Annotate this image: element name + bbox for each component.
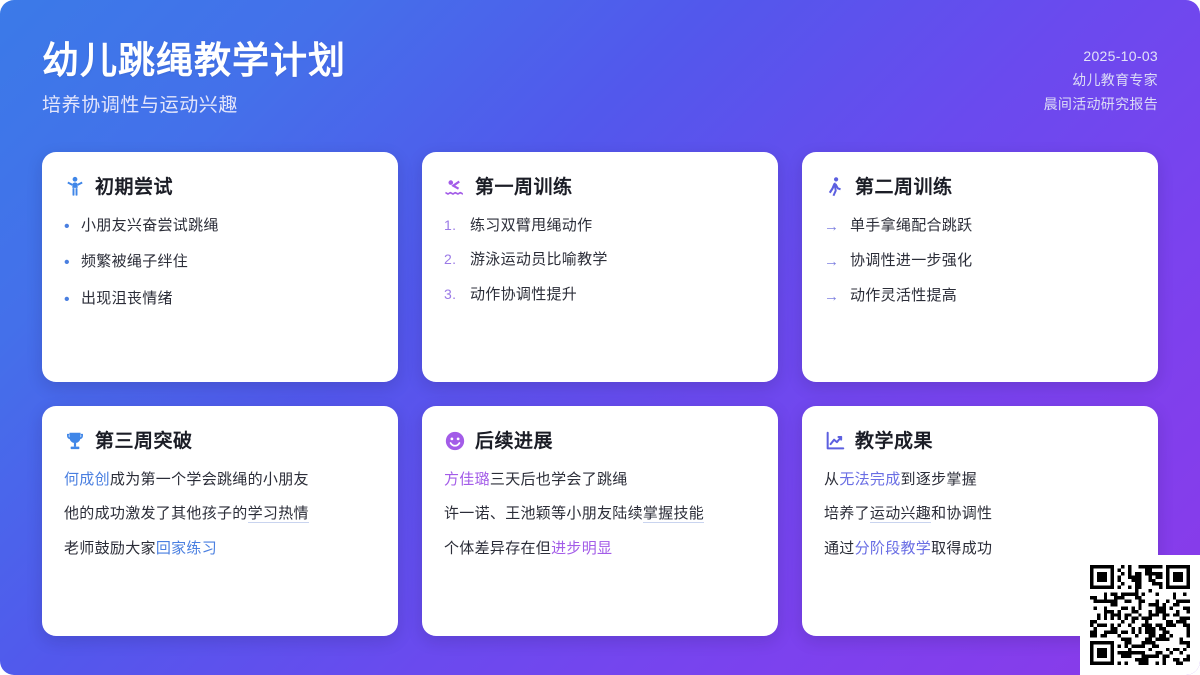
trophy-icon bbox=[64, 430, 86, 452]
card-header: 后续进展 bbox=[444, 430, 756, 452]
slide-root: 幼儿跳绳教学计划 培养协调性与运动兴趣 2025-10-03 幼儿教育专家 晨间… bbox=[0, 0, 1200, 675]
card-2: 第一周训练1.练习双臂甩绳动作2.游泳运动员比喻教学3.动作协调性提升 bbox=[422, 152, 778, 382]
card-3: 第二周训练→单手拿绳配合跳跃→协调性进一步强化→动作灵活性提高 bbox=[802, 152, 1158, 382]
highlight-segment: 学习热情 bbox=[248, 505, 309, 523]
list-marker: → bbox=[824, 251, 840, 272]
list-item: •频繁被绳子绊住 bbox=[64, 252, 376, 274]
text-segment: 成为第一个学会跳绳的小朋友 bbox=[110, 471, 309, 488]
text-segment: 和协调性 bbox=[931, 505, 992, 522]
list-marker: → bbox=[824, 286, 840, 307]
card-list: •小朋友兴奋尝试跳绳•频繁被绳子绊住•出现沮丧情绪 bbox=[64, 216, 376, 311]
line-chart-icon bbox=[824, 430, 846, 452]
text-segment: 他的成功激发了其他孩子的 bbox=[64, 505, 248, 522]
list-item-label: 游泳运动员比喻教学 bbox=[470, 250, 608, 270]
text-segment: 到逐步掌握 bbox=[901, 471, 978, 488]
list-item-label: 动作灵活性提高 bbox=[850, 286, 957, 306]
highlight-segment: 进步明显 bbox=[551, 540, 612, 557]
text-segment: 老师鼓励大家 bbox=[64, 540, 156, 557]
list-item: 1.练习双臂甩绳动作 bbox=[444, 216, 756, 236]
walking-person-icon bbox=[824, 176, 846, 198]
smiley-face-icon bbox=[444, 430, 466, 452]
card-title: 后续进展 bbox=[475, 432, 553, 451]
paragraph-line: 方佳璐三天后也学会了跳绳 bbox=[444, 470, 756, 490]
list-marker: • bbox=[64, 289, 71, 311]
list-item-label: 练习双臂甩绳动作 bbox=[470, 216, 592, 236]
card-1: 初期尝试•小朋友兴奋尝试跳绳•频繁被绳子绊住•出现沮丧情绪 bbox=[42, 152, 398, 382]
card-header: 教学成果 bbox=[824, 430, 1136, 452]
list-marker: 3. bbox=[444, 285, 460, 305]
card-header: 初期尝试 bbox=[64, 176, 376, 198]
meta-author: 幼儿教育专家 bbox=[1044, 68, 1158, 92]
card-title: 第三周突破 bbox=[95, 432, 193, 451]
text-segment: 三天后也学会了跳绳 bbox=[490, 471, 628, 488]
header-meta: 2025-10-03 幼儿教育专家 晨间活动研究报告 bbox=[1044, 30, 1158, 116]
list-marker: 2. bbox=[444, 250, 460, 270]
qr-code-icon bbox=[1090, 565, 1190, 665]
list-marker: • bbox=[64, 216, 71, 238]
list-item-label: 出现沮丧情绪 bbox=[81, 289, 173, 309]
list-item: •出现沮丧情绪 bbox=[64, 289, 376, 311]
swimmer-icon bbox=[444, 176, 466, 198]
paragraph-line: 个体差异存在但进步明显 bbox=[444, 539, 756, 559]
highlight-segment: 回家练习 bbox=[156, 540, 217, 557]
card-title: 初期尝试 bbox=[95, 178, 173, 197]
title-block: 幼儿跳绳教学计划 培养协调性与运动兴趣 bbox=[42, 30, 346, 117]
card-title: 第二周训练 bbox=[855, 178, 953, 197]
card-header: 第一周训练 bbox=[444, 176, 756, 198]
paragraph-line: 老师鼓励大家回家练习 bbox=[64, 539, 376, 559]
page-subtitle: 培养协调性与运动兴趣 bbox=[42, 90, 346, 117]
highlight-segment: 无法完成 bbox=[839, 471, 900, 488]
list-item-label: 小朋友兴奋尝试跳绳 bbox=[81, 216, 219, 236]
meta-report: 晨间活动研究报告 bbox=[1044, 92, 1158, 116]
paragraph-line: 何成创成为第一个学会跳绳的小朋友 bbox=[64, 470, 376, 490]
card-paragraphs: 方佳璐三天后也学会了跳绳许一诺、王池颖等小朋友陆续掌握技能个体差异存在但进步明显 bbox=[444, 470, 756, 559]
highlight-segment: 何成创 bbox=[64, 471, 110, 488]
page-title: 幼儿跳绳教学计划 bbox=[42, 38, 346, 83]
text-segment: 许一诺、王池颖等小朋友陆续 bbox=[444, 505, 643, 522]
list-marker: → bbox=[824, 216, 840, 237]
card-list: →单手拿绳配合跳跃→协调性进一步强化→动作灵活性提高 bbox=[824, 216, 1136, 307]
list-marker: 1. bbox=[444, 216, 460, 236]
highlight-segment: 运动兴趣 bbox=[870, 505, 931, 523]
text-segment: 从 bbox=[824, 471, 839, 488]
list-item: •小朋友兴奋尝试跳绳 bbox=[64, 216, 376, 238]
child-raising-arms-icon bbox=[64, 176, 86, 198]
list-item: 2.游泳运动员比喻教学 bbox=[444, 250, 756, 270]
list-marker: • bbox=[64, 252, 71, 274]
highlight-segment: 分阶段教学 bbox=[855, 540, 932, 557]
card-header: 第三周突破 bbox=[64, 430, 376, 452]
card-5: 后续进展方佳璐三天后也学会了跳绳许一诺、王池颖等小朋友陆续掌握技能个体差异存在但… bbox=[422, 406, 778, 636]
list-item-label: 动作协调性提升 bbox=[470, 285, 577, 305]
meta-date: 2025-10-03 bbox=[1044, 44, 1158, 68]
card-paragraphs: 从无法完成到逐步掌握培养了运动兴趣和协调性通过分阶段教学取得成功 bbox=[824, 470, 1136, 559]
list-item: →协调性进一步强化 bbox=[824, 251, 1136, 272]
paragraph-line: 培养了运动兴趣和协调性 bbox=[824, 504, 1136, 524]
card-title: 教学成果 bbox=[855, 432, 933, 451]
text-segment: 个体差异存在但 bbox=[444, 540, 551, 557]
list-item-label: 协调性进一步强化 bbox=[850, 251, 972, 271]
list-item: →单手拿绳配合跳跃 bbox=[824, 216, 1136, 237]
paragraph-line: 从无法完成到逐步掌握 bbox=[824, 470, 1136, 490]
list-item-label: 频繁被绳子绊住 bbox=[81, 252, 188, 272]
highlight-segment: 方佳璐 bbox=[444, 471, 490, 488]
card-header: 第二周训练 bbox=[824, 176, 1136, 198]
card-grid: 初期尝试•小朋友兴奋尝试跳绳•频繁被绳子绊住•出现沮丧情绪第一周训练1.练习双臂… bbox=[42, 152, 1158, 636]
card-4: 第三周突破何成创成为第一个学会跳绳的小朋友他的成功激发了其他孩子的学习热情老师鼓… bbox=[42, 406, 398, 636]
card-paragraphs: 何成创成为第一个学会跳绳的小朋友他的成功激发了其他孩子的学习热情老师鼓励大家回家… bbox=[64, 470, 376, 559]
slide-header: 幼儿跳绳教学计划 培养协调性与运动兴趣 2025-10-03 幼儿教育专家 晨间… bbox=[42, 30, 1158, 140]
qr-code-container[interactable] bbox=[1080, 555, 1200, 675]
list-item: 3.动作协调性提升 bbox=[444, 285, 756, 305]
highlight-segment: 掌握技能 bbox=[643, 505, 704, 523]
card-list: 1.练习双臂甩绳动作2.游泳运动员比喻教学3.动作协调性提升 bbox=[444, 216, 756, 305]
card-title: 第一周训练 bbox=[475, 178, 573, 197]
paragraph-line: 许一诺、王池颖等小朋友陆续掌握技能 bbox=[444, 504, 756, 524]
text-segment: 取得成功 bbox=[931, 540, 992, 557]
list-item: →动作灵活性提高 bbox=[824, 286, 1136, 307]
list-item-label: 单手拿绳配合跳跃 bbox=[850, 216, 972, 236]
paragraph-line: 他的成功激发了其他孩子的学习热情 bbox=[64, 504, 376, 524]
text-segment: 通过 bbox=[824, 540, 855, 557]
text-segment: 培养了 bbox=[824, 505, 870, 522]
